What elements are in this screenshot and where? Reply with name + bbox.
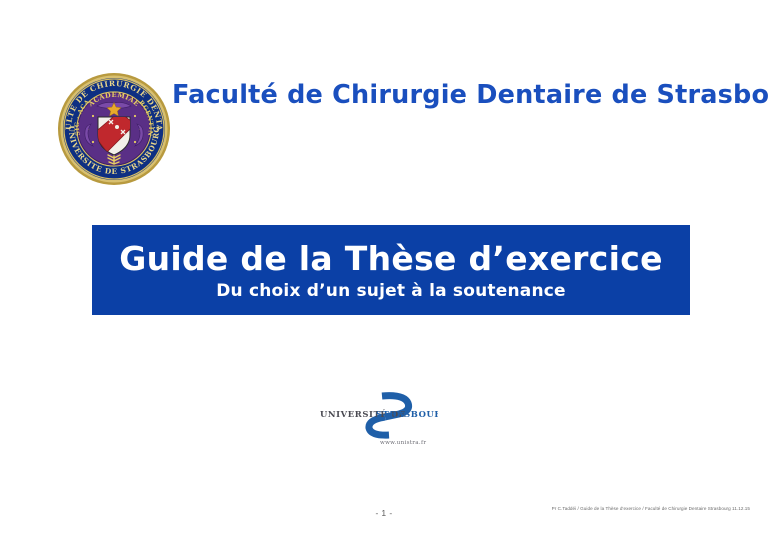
banner-subtitle: Du choix d’un sujet à la soutenance [216,281,566,302]
footer-credit: Pr C.Taddéi / Guide de la Thèse d’exerci… [552,506,750,511]
svg-text:STRASBOURG: STRASBOURG [376,409,438,419]
document-page: FACULTE DE CHIRURGIE DENTAIRE UNIVERSITE… [0,0,768,543]
svg-text:www.unistra.fr: www.unistra.fr [380,440,426,446]
page-header: FACULTE DE CHIRURGIE DENTAIRE UNIVERSITE… [0,66,768,196]
title-banner: Guide de la Thèse d’exercice Du choix d’… [92,225,690,315]
page-title: Faculté de Chirurgie Dentaire de Strasbo… [172,80,750,110]
universite-de-strasbourg-logo-icon: UNIVERSITÉ DE STRASBOURG www.unistra.fr [318,392,438,450]
banner-title: Guide de la Thèse d’exercice [119,239,663,279]
faculty-seal-icon: FACULTE DE CHIRURGIE DENTAIRE UNIVERSITE… [57,72,171,186]
